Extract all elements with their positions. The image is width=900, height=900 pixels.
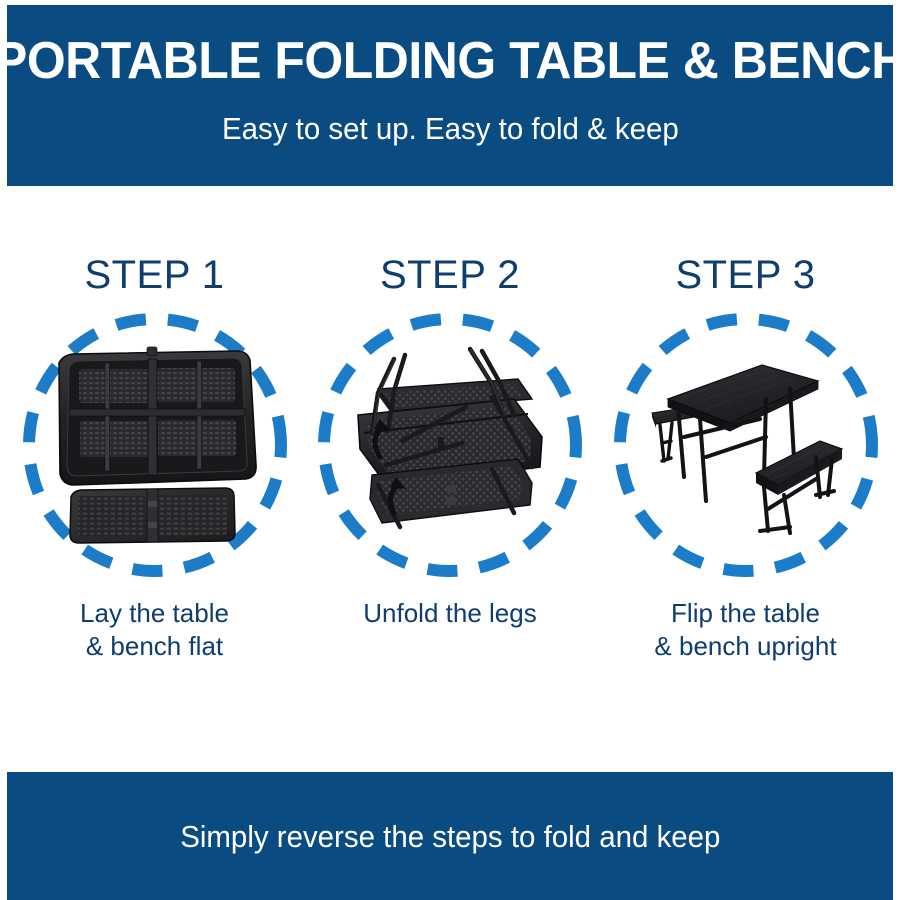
step-1-title: STEP 1 [84, 255, 224, 295]
steps-container: STEP 1 [7, 255, 893, 685]
footer-banner: Simply reverse the steps to fold and kee… [7, 772, 893, 900]
step-3-media [612, 311, 880, 579]
step-2-title: STEP 2 [380, 255, 520, 295]
step-3: STEP 3 [598, 255, 893, 664]
step-3-caption: Flip the table & bench upright [654, 597, 836, 664]
step-2: STEP 2 [303, 255, 598, 630]
page-subtitle: Easy to set up. Easy to fold & keep [222, 113, 679, 144]
header-banner: PORTABLE FOLDING TABLE & BENCH Easy to s… [7, 5, 893, 186]
step-2-media [316, 311, 584, 579]
footer-text: Simply reverse the steps to fold and kee… [180, 821, 720, 852]
step-2-illustration [342, 337, 558, 553]
page-title: PORTABLE FOLDING TABLE & BENCH [0, 35, 900, 87]
step-1-media [21, 311, 289, 579]
step-1-caption: Lay the table & bench flat [80, 597, 229, 664]
infographic-page: PORTABLE FOLDING TABLE & BENCH Easy to s… [0, 0, 900, 900]
step-3-title: STEP 3 [675, 255, 815, 295]
step-1-illustration [47, 337, 263, 553]
step-3-illustration [638, 337, 854, 553]
step-1: STEP 1 [7, 255, 302, 664]
step-2-caption: Unfold the legs [363, 597, 536, 630]
